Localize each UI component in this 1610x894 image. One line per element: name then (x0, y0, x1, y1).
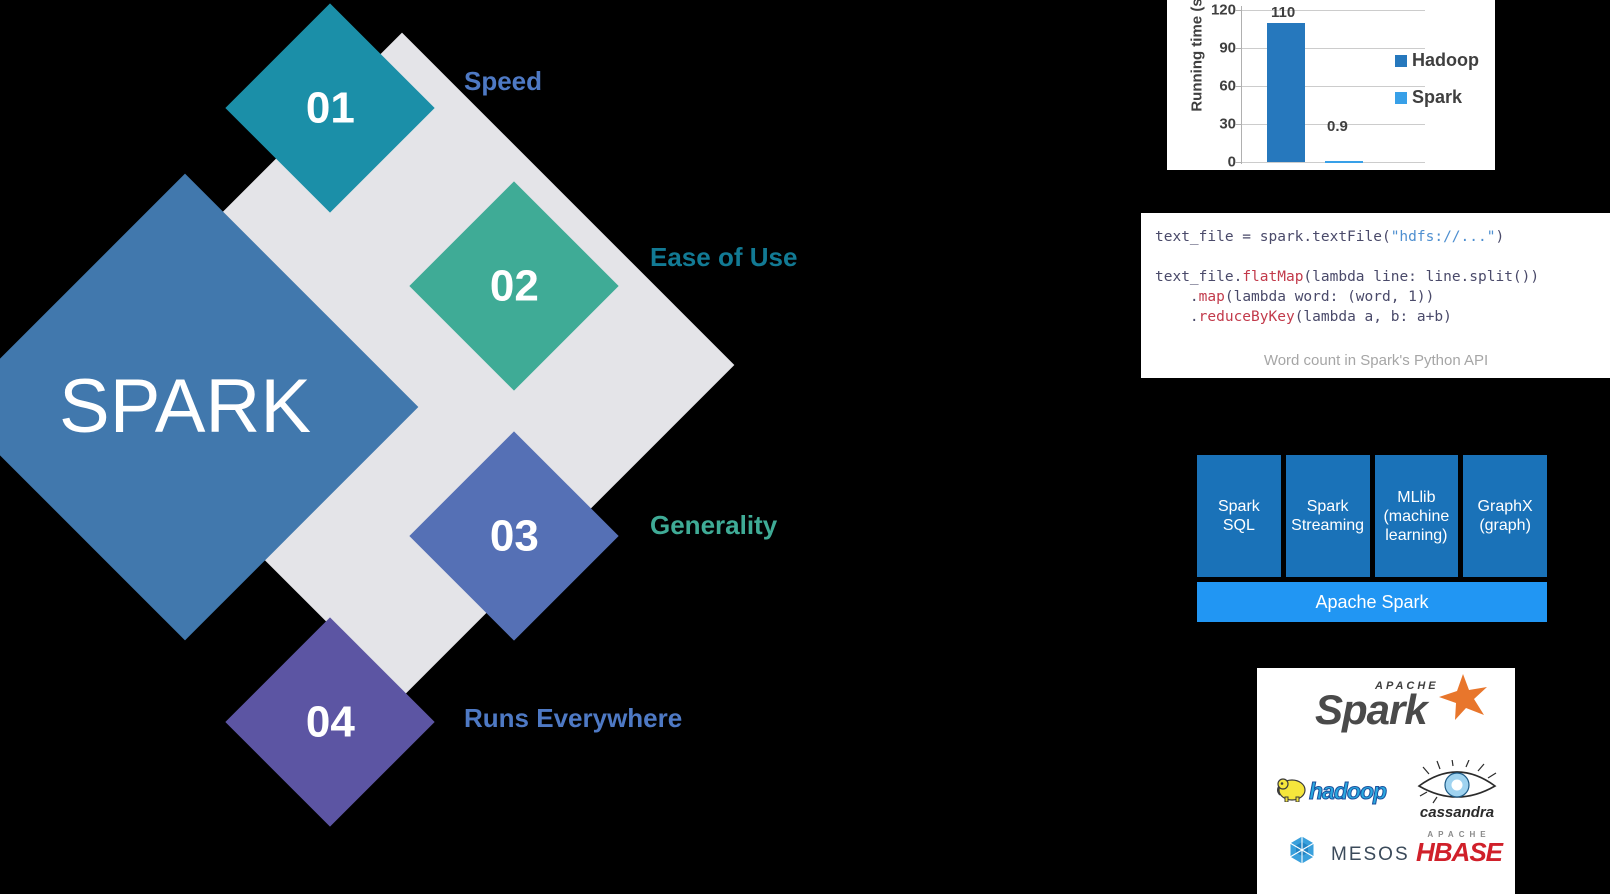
code-line-1-suffix: ) (1495, 229, 1504, 245)
code-line-1-prefix: text_file = spark.textFile( (1155, 229, 1391, 245)
legend-swatch-spark (1395, 92, 1407, 104)
ytick-label-30: 30 (1219, 116, 1236, 133)
chart-legend: Hadoop Spark (1395, 50, 1479, 124)
hadoop-logo: hadoop (1275, 776, 1307, 807)
axis-tick-0 (1235, 162, 1242, 163)
bar-value-hadoop: 110 (1271, 4, 1295, 21)
stack-module-graphx[interactable]: GraphX(graph) (1463, 455, 1547, 577)
diamond-infographic: SPARK 01 02 03 04 Speed Ease of Use Gene… (0, 0, 900, 894)
hadoop-logo-wordmark: hadoop (1309, 778, 1386, 805)
axis-tick-90 (1235, 48, 1242, 49)
step-number-01: 01 (306, 86, 355, 130)
chart-y-axis-label: Running time (s) (1189, 0, 1206, 113)
code-line-4-prefix: . (1155, 309, 1199, 325)
legend-swatch-hadoop (1395, 55, 1407, 67)
cassandra-logo-wordmark: cassandra (1407, 804, 1507, 821)
hbase-logo: APACHE HBASE (1407, 830, 1511, 865)
code-block[interactable]: text_file = spark.textFile("hdfs://...")… (1141, 227, 1610, 327)
feature-label-generality: Generality (650, 510, 777, 541)
code-line-2-method: flatMap (1242, 269, 1303, 285)
bar-hadoop[interactable] (1267, 23, 1305, 162)
ytick-label-90: 90 (1219, 40, 1236, 57)
cassandra-eye-icon (1407, 760, 1507, 806)
code-line-3-method: map (1199, 289, 1225, 305)
step-number-03: 03 (490, 514, 539, 558)
code-line-1-string: "hdfs://..." (1391, 229, 1496, 245)
legend-label-spark: Spark (1412, 87, 1462, 108)
legend-entry-hadoop[interactable]: Hadoop (1395, 50, 1479, 71)
bar-value-spark: 0.9 (1327, 118, 1348, 135)
cassandra-logo: cassandra (1407, 760, 1507, 811)
mesos-logo: MESOS (1283, 834, 1321, 877)
spark-stack-diagram: SparkSQL SparkStreaming MLlib(machine le… (1197, 455, 1547, 622)
stack-base-apache-spark[interactable]: Apache Spark (1197, 582, 1547, 622)
code-line-2-suffix: (lambda line: line.split()) (1303, 269, 1539, 285)
feature-label-runs-everywhere: Runs Everywhere (464, 703, 682, 734)
legend-label-hadoop: Hadoop (1412, 50, 1479, 71)
legend-entry-spark[interactable]: Spark (1395, 87, 1479, 108)
code-line-4-suffix: (lambda a, b: a+b) (1295, 309, 1452, 325)
mesos-hexagon-icon (1283, 834, 1321, 872)
benchmark-chart-card: Running time (s) 120 90 60 30 0 110 0.9 (1167, 0, 1495, 170)
stack-modules-row: SparkSQL SparkStreaming MLlib(machine le… (1197, 455, 1547, 577)
spark-star-icon (1435, 672, 1491, 722)
bar-spark[interactable] (1325, 161, 1363, 163)
step-number-02: 02 (490, 264, 539, 308)
code-line-2-prefix: text_file. (1155, 269, 1242, 285)
apache-spark-logo-wordmark: Spark (1315, 686, 1427, 734)
stack-module-spark-sql-text: SparkSQL (1218, 497, 1260, 535)
stack-module-spark-streaming[interactable]: SparkStreaming (1286, 455, 1370, 577)
code-card: text_file = spark.textFile("hdfs://...")… (1141, 213, 1610, 378)
axis-tick-60 (1235, 86, 1242, 87)
hadoop-elephant-icon (1275, 776, 1307, 802)
axis-tick-120 (1235, 10, 1242, 11)
stack-module-mllib-text: MLlib(machine learning) (1377, 488, 1457, 545)
apache-spark-logo: APACHE Spark (1257, 676, 1515, 742)
gridline-120: 120 (1241, 10, 1425, 11)
feature-label-ease-of-use: Ease of Use (650, 242, 797, 273)
code-line-3-suffix: (lambda word: (word, 1)) (1225, 289, 1435, 305)
mesos-logo-wordmark: MESOS (1331, 844, 1410, 866)
ecosystem-logo-board: APACHE Spark hadoop (1257, 668, 1515, 894)
stack-module-spark-streaming-text: SparkStreaming (1291, 497, 1364, 535)
ytick-label-120: 120 (1211, 2, 1236, 19)
code-line-3-prefix: . (1155, 289, 1199, 305)
stack-module-spark-sql[interactable]: SparkSQL (1197, 455, 1281, 577)
ytick-label-60: 60 (1219, 78, 1236, 95)
axis-tick-30 (1235, 124, 1242, 125)
feature-label-speed: Speed (464, 66, 542, 97)
code-line-4-method: reduceByKey (1199, 309, 1295, 325)
step-number-04: 04 (306, 700, 355, 744)
chart-y-axis-line (1241, 6, 1242, 164)
code-caption: Word count in Spark's Python API (1141, 352, 1610, 369)
hbase-logo-wordmark: HBASE (1407, 839, 1511, 865)
spark-center-label: SPARK (59, 369, 311, 445)
stack-module-mllib[interactable]: MLlib(machine learning) (1375, 455, 1459, 577)
stack-module-graphx-text: GraphX(graph) (1478, 497, 1533, 535)
